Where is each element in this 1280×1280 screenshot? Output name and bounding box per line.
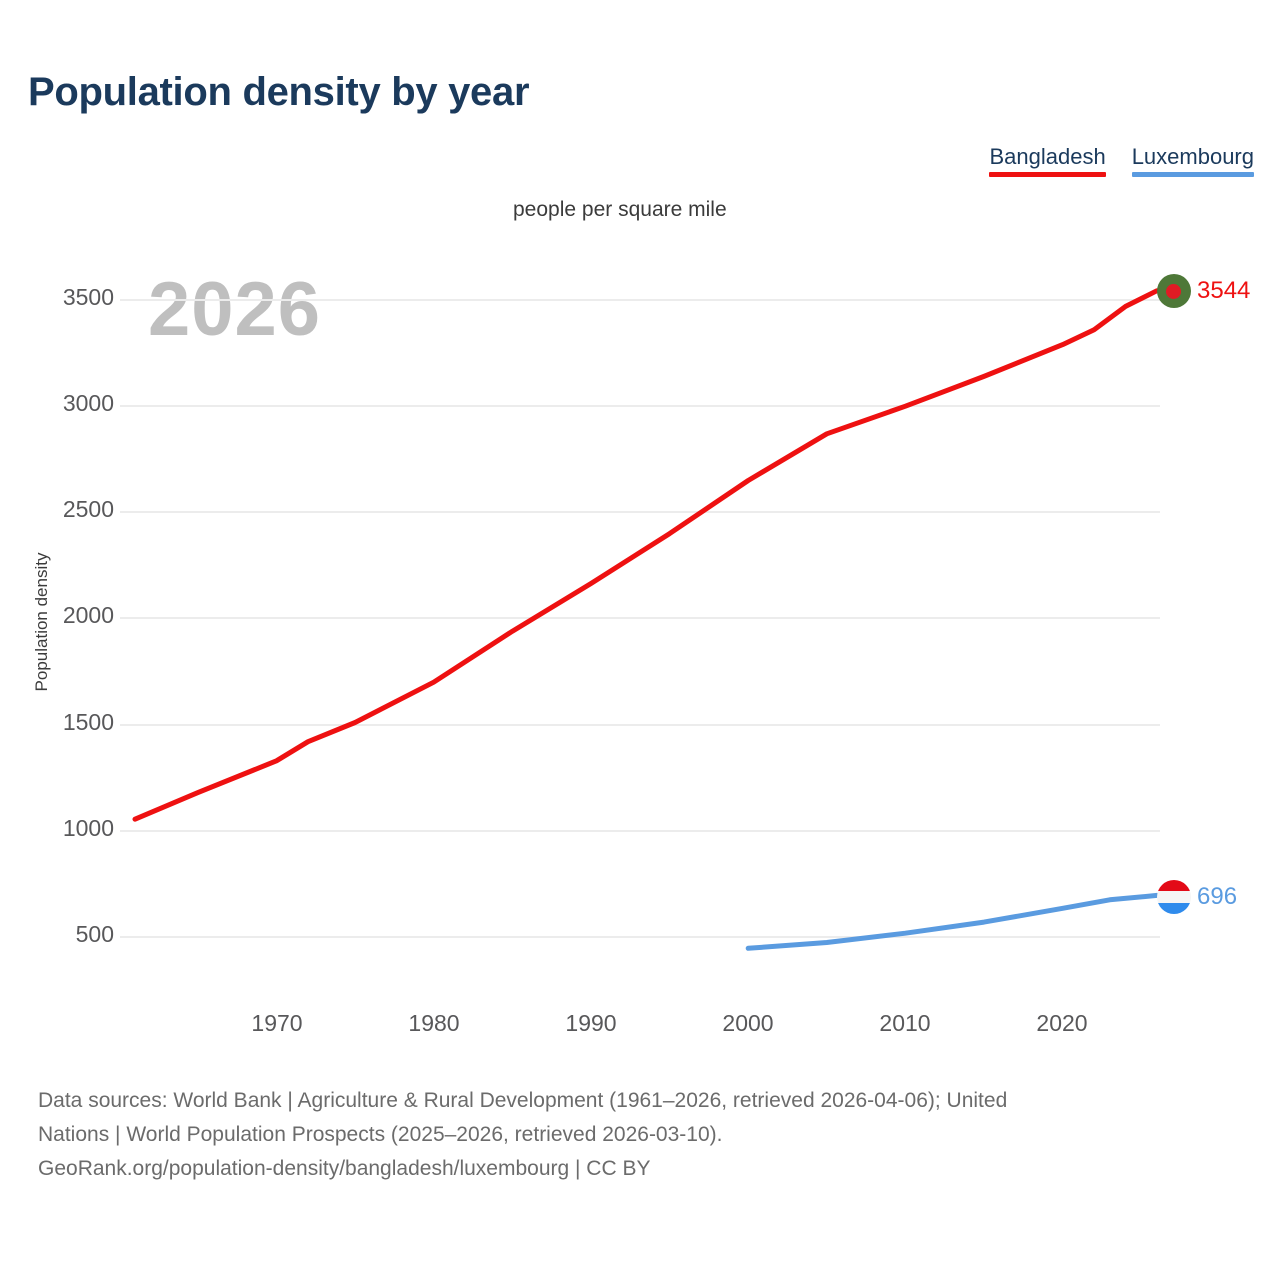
footer-line-2: Nations | World Population Prospects (20… — [38, 1118, 1253, 1152]
footer: Data sources: World Bank | Agriculture &… — [38, 1084, 1253, 1186]
end-value-bangladesh: 3544 — [1197, 277, 1250, 305]
series-line-bangladesh — [135, 291, 1157, 820]
end-value-luxembourg: 696 — [1197, 883, 1237, 911]
series-line-luxembourg — [748, 895, 1157, 948]
marker-flag-bangladesh[interactable] — [1157, 274, 1191, 308]
bangladesh-flag-disc-icon — [1166, 284, 1181, 299]
plot-area — [0, 0, 1280, 1060]
marker-flag-luxembourg[interactable] — [1157, 880, 1191, 914]
gridlines — [120, 300, 1160, 937]
footer-line-3: GeoRank.org/population-density/banglades… — [38, 1152, 1253, 1186]
footer-line-1: Data sources: World Bank | Agriculture &… — [38, 1084, 1253, 1118]
luxembourg-flag-stripe-white-icon — [1157, 891, 1191, 902]
chart-page: Population density by year Bangladesh Lu… — [0, 0, 1280, 1280]
